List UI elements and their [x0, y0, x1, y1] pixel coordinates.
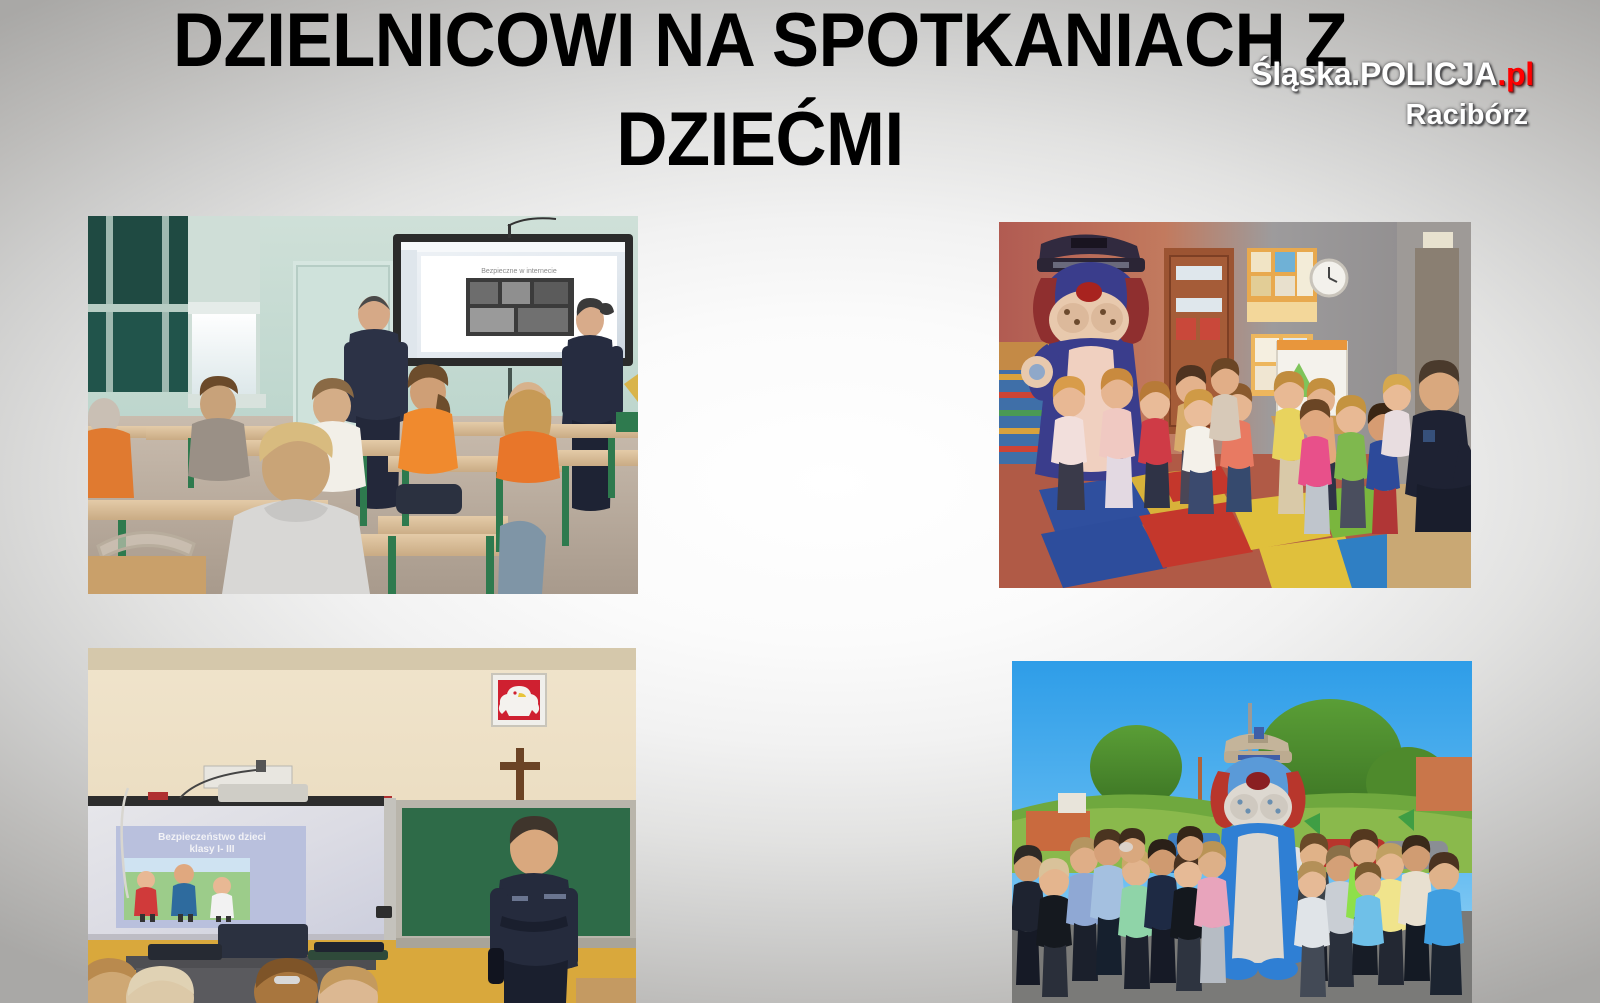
logo-brand-text: Śląska.POLICJA: [1251, 56, 1497, 92]
photo-classroom-projector-image: Bezpieczeństwo dzieci klasy I- III: [88, 648, 636, 1003]
photo-classroom-whiteboard: Bezpieczne w internecie: [88, 216, 638, 594]
presentation-slide: DZIELNICOWI NA SPOTKANIACH Z DZIEĆMI Ślą…: [0, 0, 1600, 1003]
logo-brand-line: Śląska.POLICJA.pl: [1251, 58, 1534, 90]
logo-tld-text: .pl: [1497, 56, 1534, 92]
svg-text:klasy I- III: klasy I- III: [189, 844, 234, 855]
police-logo: Śląska.POLICJA.pl Racibórz: [1251, 58, 1534, 130]
photo-classroom-whiteboard-image: Bezpieczne w internecie: [88, 216, 638, 594]
page-title: DZIELNICOWI NA SPOTKANIACH Z DZIEĆMI: [165, 0, 1355, 190]
photo-kindergarten-mascot: [999, 222, 1471, 588]
photo-outdoor-mascot: [1012, 661, 1472, 1003]
logo-city-text: Racibórz: [1251, 101, 1528, 130]
svg-text:Bezpieczne w internecie: Bezpieczne w internecie: [481, 268, 557, 275]
photo-outdoor-mascot-image: [1012, 661, 1472, 1003]
svg-text:Bezpieczeństwo dzieci: Bezpieczeństwo dzieci: [158, 832, 266, 843]
photo-kindergarten-mascot-image: [999, 222, 1471, 588]
photo-classroom-projector: Bezpieczeństwo dzieci klasy I- III: [88, 648, 636, 1003]
